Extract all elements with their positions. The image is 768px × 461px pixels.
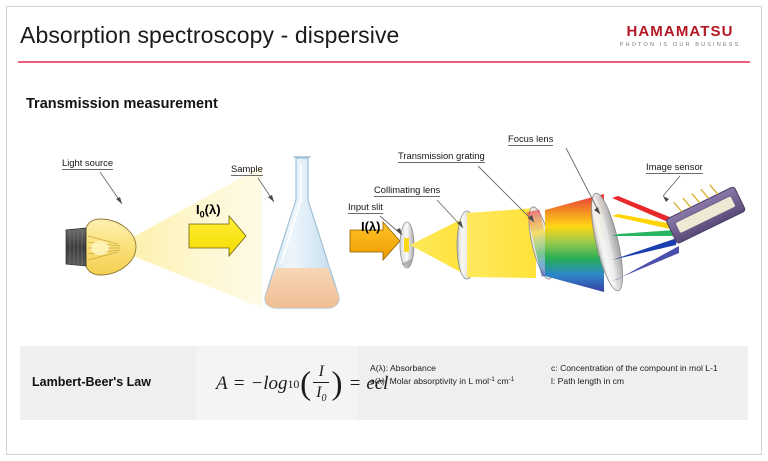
formula-denominator-sub: 0 [321,394,326,405]
label-collimating-lens: Collimating lens [374,185,440,197]
legend-molar-sup2: -1 [509,376,515,383]
legend-item-molar-absorptivity: e(λ): Molar absorptivity in L mol-1 cm-1 [370,375,514,388]
legend-molar-text: e(λ): Molar absorptivity in L mol [370,376,489,386]
label-focus-lens: Focus lens [508,134,553,146]
formula-numerator: I [316,363,327,382]
image-sensor [660,176,745,244]
collimated-beam [467,208,536,278]
logo-tagline: PHOTON IS OUR BUSINESS [610,43,750,49]
slide-root: Absorption spectroscopy - dispersive HAM… [0,0,768,461]
label-transmission-grating: Transmission grating [398,151,485,163]
legend-item-concentration: c: Concentration of the compount in mol … [551,362,718,375]
page-title: Absorption spectroscopy - dispersive [20,22,399,49]
optical-setup-diagram: Light source Sample Input slit Collimati… [0,118,768,333]
label-input-slit: Input slit [348,202,383,214]
formula-paren-open: ( [300,371,311,397]
label-image-sensor: Image sensor [646,162,703,174]
formula-paren-close: ) [331,371,342,397]
legend-column-left: A(λ): Absorbance e(λ): Molar absorptivit… [370,362,514,389]
formula-lhs: A [216,373,228,395]
label-incident-intensity: I0(λ) [196,202,221,220]
label-transmitted-intensity: I(λ) [361,219,381,234]
law-title: Lambert-Beer's Law [32,375,151,389]
formula-fraction: I I0 [313,363,329,404]
incident-lambda: (λ) [205,202,221,217]
section-title: Transmission measurement [26,96,218,112]
sample-flask [265,157,339,308]
legend-column-right: c: Concentration of the compount in mol … [551,362,718,389]
hamamatsu-logo: HAMAMATSU PHOTON IS OUR BUSINESS [610,24,750,49]
title-divider [18,61,750,63]
formula-equals-2: = [348,373,361,395]
formula-denominator: I0 [313,383,329,404]
legend-item-absorbance: A(λ): Absorbance [370,362,514,375]
legend-molar-mid: cm [495,376,509,386]
lambert-beer-formula: A = −log10 ( I I0 ) = ecl [216,362,388,406]
formula-neg-log: −log [250,373,287,395]
logo-wordmark: HAMAMATSU [610,24,750,39]
formula-log-base: 10 [288,377,300,392]
label-sample: Sample [231,164,263,176]
legend-item-path-length: l: Path length in cm [551,375,718,388]
formula-equals-1: = [233,373,246,395]
light-source-bulb [66,219,136,275]
label-light-source: Light source [62,158,113,170]
